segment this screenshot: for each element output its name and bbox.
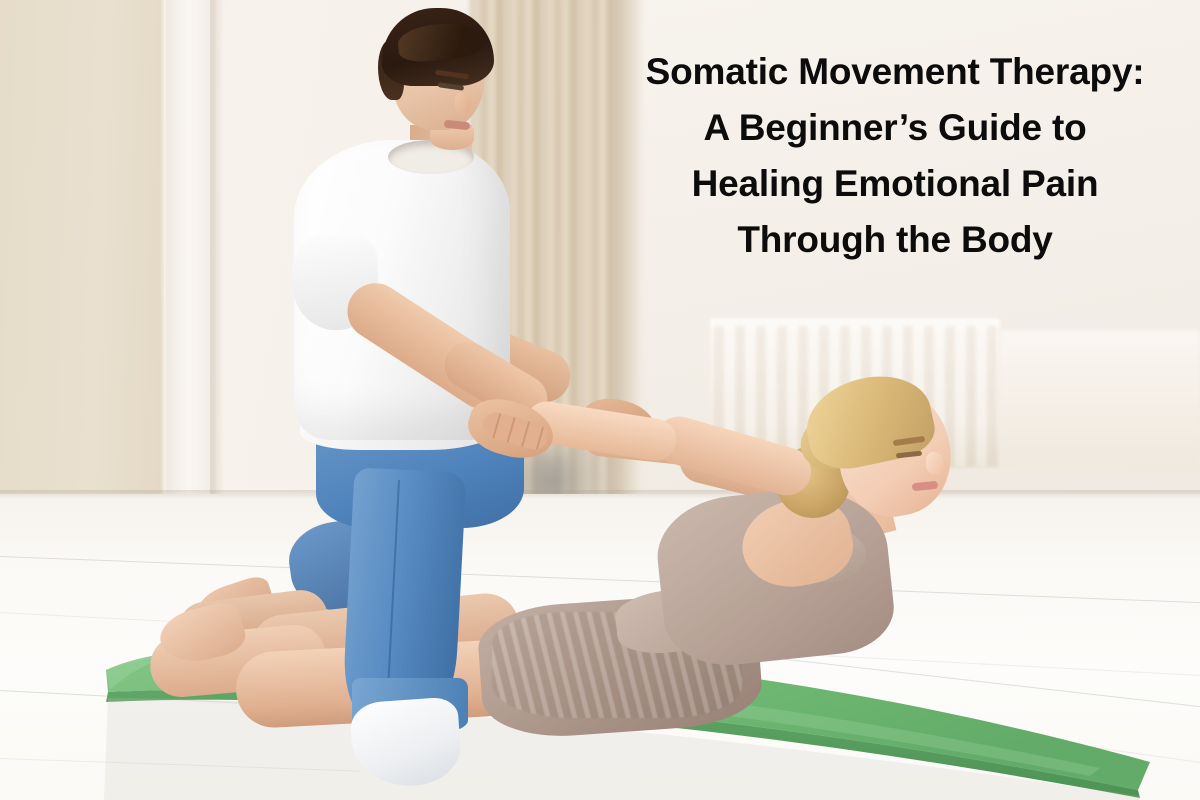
- title-line-4: Through the Body: [600, 212, 1190, 268]
- therapist-nose: [455, 92, 471, 114]
- page-title: Somatic Movement Therapy: A Beginner’s G…: [600, 44, 1190, 268]
- therapist-chin: [430, 128, 474, 150]
- title-line-3: Healing Emotional Pain: [600, 156, 1190, 212]
- header-image: Somatic Movement Therapy: A Beginner’s G…: [0, 0, 1200, 800]
- client-nose: [926, 452, 944, 474]
- title-line-2: A Beginner’s Guide to: [600, 100, 1190, 156]
- title-line-1: Somatic Movement Therapy:: [600, 44, 1190, 100]
